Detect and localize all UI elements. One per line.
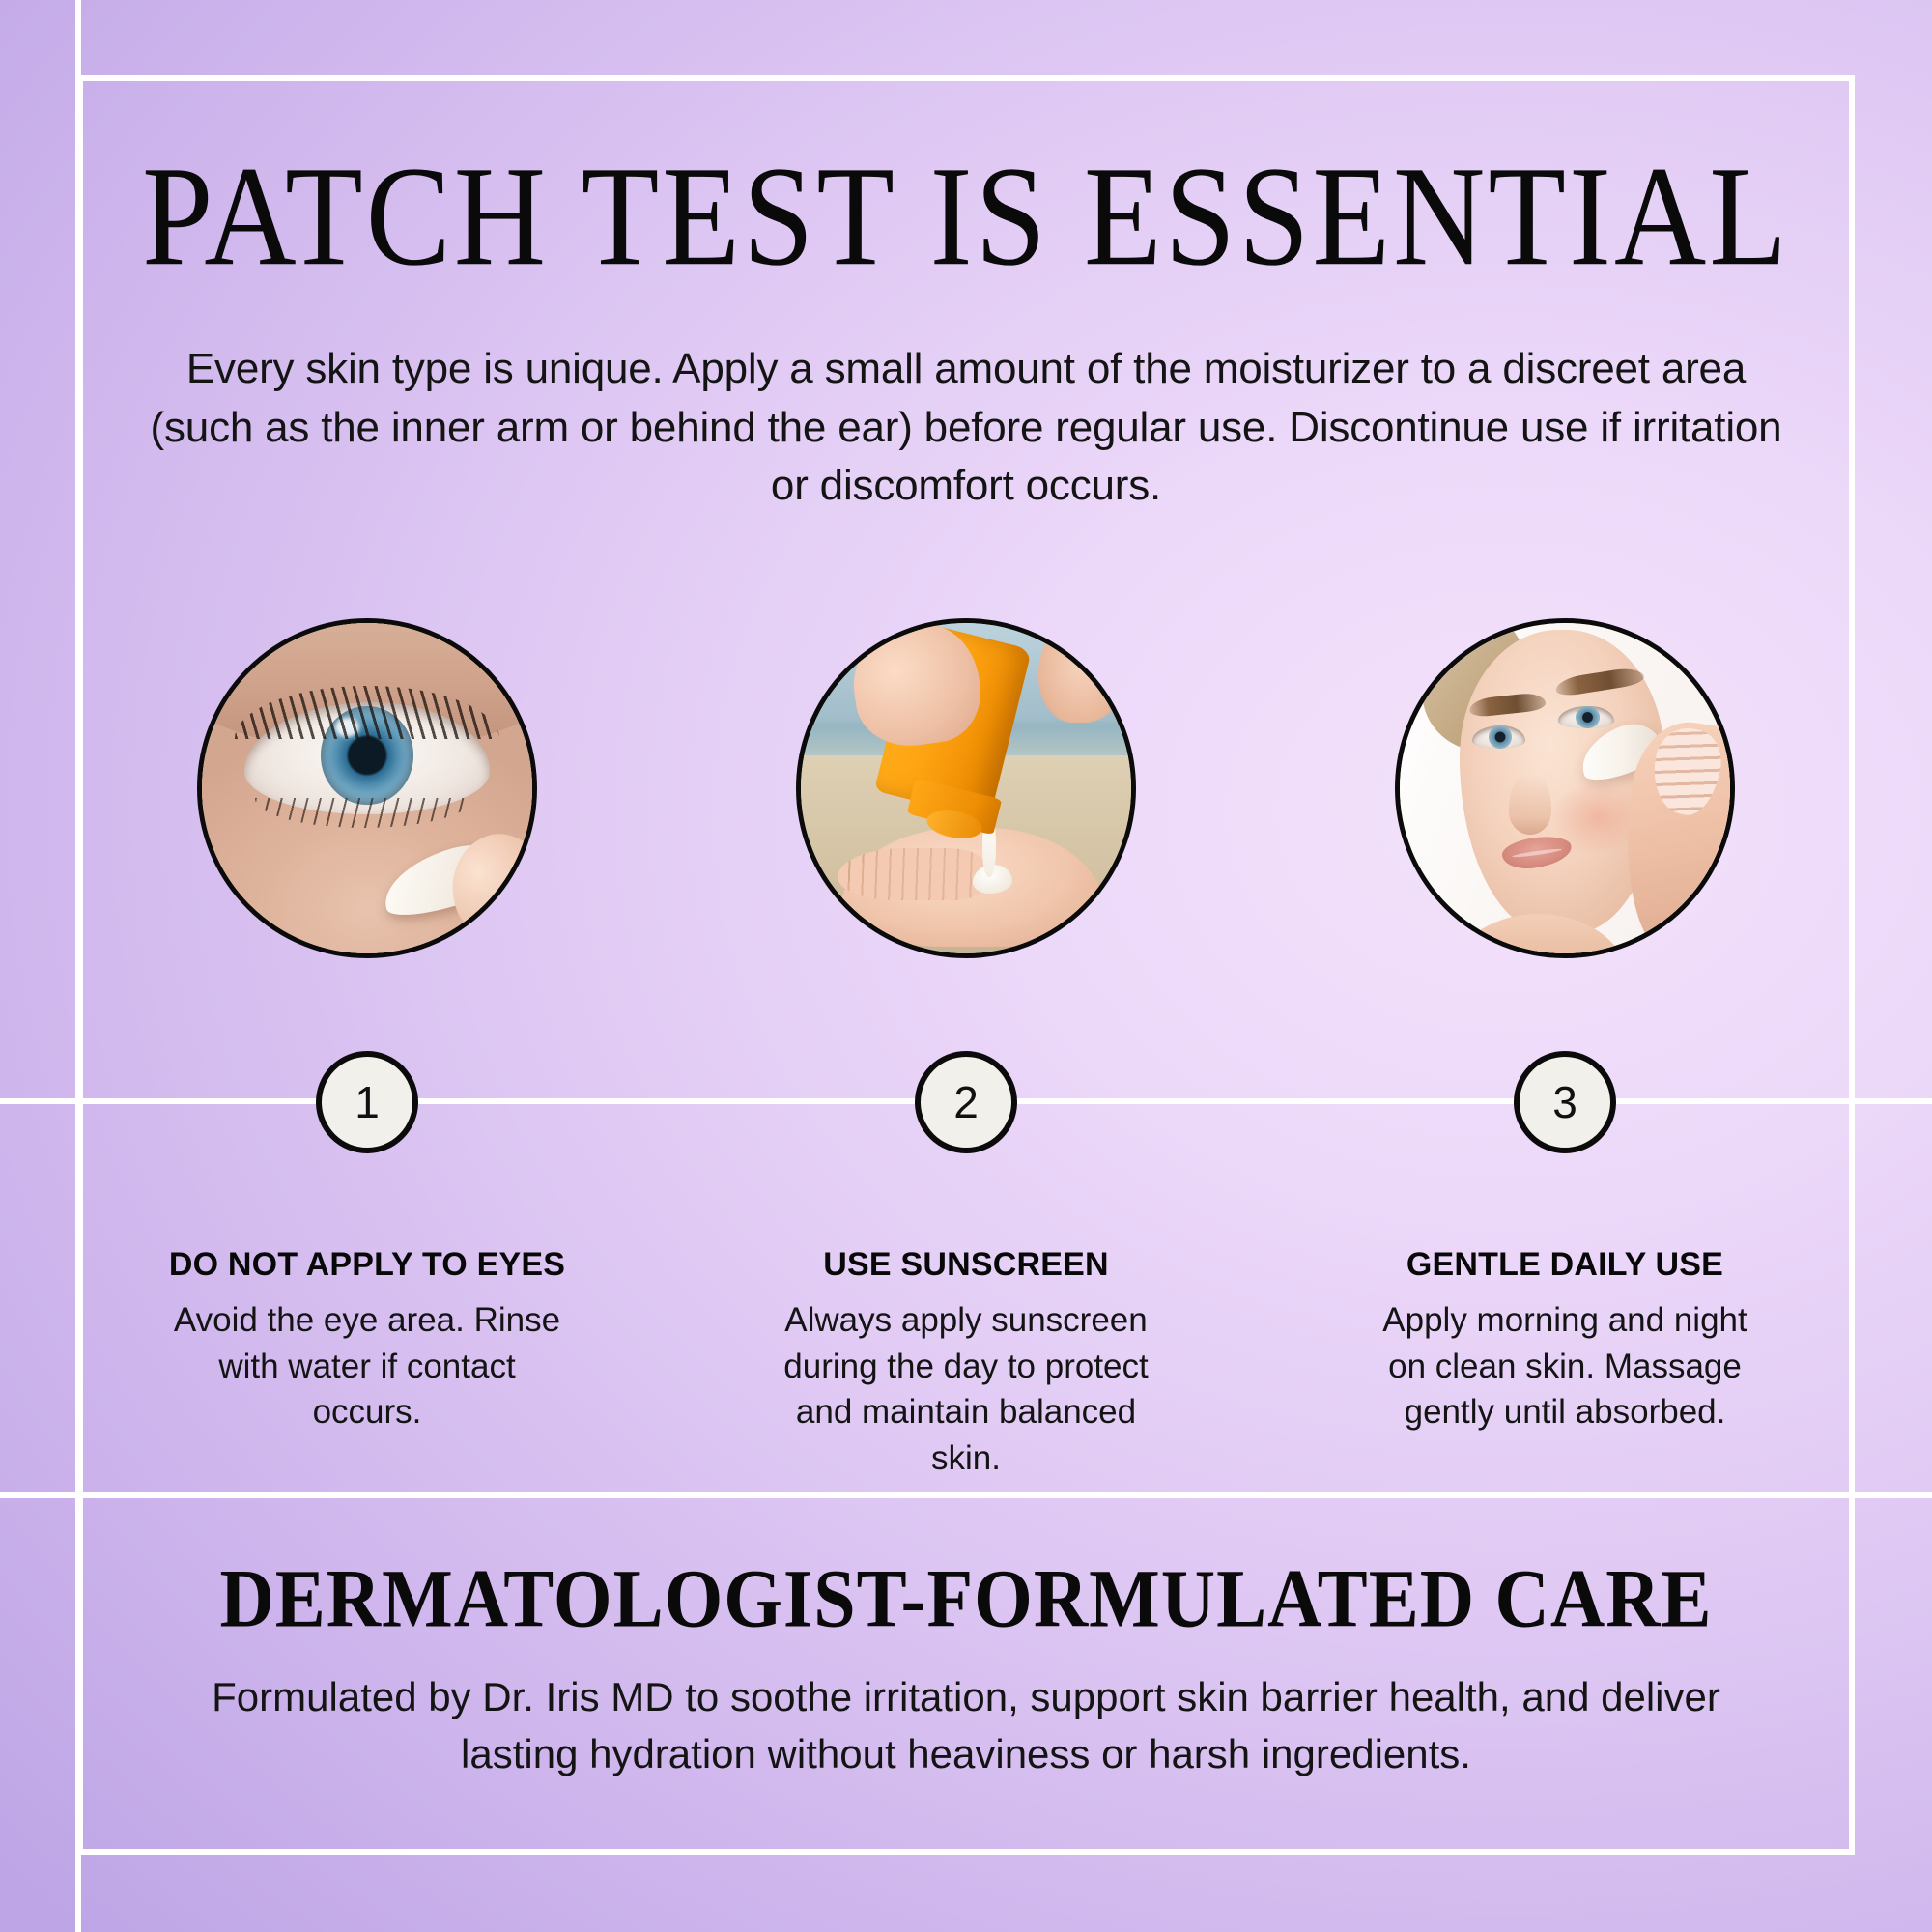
step-column-3: 3 GENTLE DAILY USE Apply morning and nig… — [1294, 618, 1835, 1481]
footer-heading: DERMATOLOGIST-FORMULATED CARE — [97, 1557, 1835, 1640]
step-body-2: Always apply sunscreen during the day to… — [763, 1297, 1169, 1481]
infographic-content: PATCH TEST IS ESSENTIAL Every skin type … — [0, 0, 1932, 1932]
model-eye-right — [1558, 706, 1614, 729]
model-iris-right — [1576, 706, 1601, 729]
step-title-2: USE SUNSCREEN — [823, 1246, 1108, 1284]
sunscreen-photo — [796, 618, 1136, 958]
step-body-1: Avoid the eye area. Rinse with water if … — [164, 1297, 570, 1435]
eye-closeup-photo — [197, 618, 537, 958]
nose — [1509, 775, 1551, 835]
intro-paragraph: Every skin type is unique. Apply a small… — [143, 340, 1789, 516]
step-column-1: 1 DO NOT APPLY TO EYES Avoid the eye are… — [97, 618, 638, 1481]
step-number-badge-2: 2 — [915, 1051, 1017, 1153]
step-title-3: GENTLE DAILY USE — [1406, 1246, 1723, 1284]
step-number-1: 1 — [355, 1076, 380, 1128]
step-column-2: 2 USE SUNSCREEN Always apply sunscreen d… — [696, 618, 1236, 1481]
step-number-2: 2 — [953, 1076, 979, 1128]
model-eye-left — [1472, 725, 1525, 749]
model-iris-left — [1489, 725, 1512, 749]
step-number-badge-1: 1 — [316, 1051, 418, 1153]
palm-fingers — [838, 848, 989, 901]
step-number-3: 3 — [1552, 1076, 1577, 1128]
gripping-hand-back — [1038, 623, 1124, 723]
steps-row: 1 DO NOT APPLY TO EYES Avoid the eye are… — [97, 618, 1835, 1481]
step-number-badge-3: 3 — [1514, 1051, 1616, 1153]
face-cream-photo — [1395, 618, 1735, 958]
page-title: PATCH TEST IS ESSENTIAL — [97, 145, 1835, 288]
step-body-3: Apply morning and night on clean skin. M… — [1362, 1297, 1768, 1435]
step-title-1: DO NOT APPLY TO EYES — [169, 1246, 565, 1284]
footer-paragraph: Formulated by Dr. Iris MD to soothe irri… — [155, 1669, 1777, 1783]
